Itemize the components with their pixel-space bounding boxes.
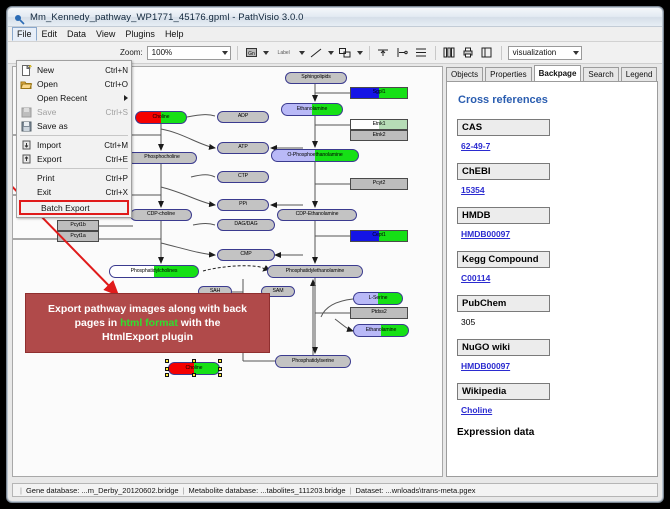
xref-label-pubchem: PubChem	[457, 295, 550, 312]
file-menu-item-save-as[interactable]: Save as	[17, 119, 131, 133]
status-dataset-label: Dataset:	[355, 486, 383, 495]
node-label: Phosphatidylcholines	[131, 269, 178, 274]
xref-value-chebi[interactable]: 15354	[461, 185, 485, 195]
metabolite-node-ethanolamine[interactable]: Ethanolamine	[281, 103, 343, 116]
file-menu-shortcut-import: Ctrl+M	[104, 141, 128, 150]
align-left-button[interactable]	[395, 45, 410, 60]
node-label: Ethanolamine	[297, 107, 328, 112]
gene-node-pcyt1a[interactable]: Pcyt1a	[57, 231, 99, 242]
gene-node-ptdss2[interactable]: Ptdss2	[350, 307, 408, 319]
print-button[interactable]	[461, 45, 476, 60]
xref-value-hmdb[interactable]: HMDB00097	[461, 229, 510, 239]
metabolite-node-choline[interactable]: Choline	[135, 111, 187, 124]
selection-handle-0[interactable]	[165, 359, 169, 363]
metabolite-node-cdp-ethanolamine[interactable]: CDP-Ethanolamine	[277, 209, 357, 221]
tab-legend[interactable]: Legend	[621, 67, 658, 81]
svg-text:Gn: Gn	[248, 51, 255, 57]
selection-handle-5[interactable]	[165, 373, 169, 377]
columns-button[interactable]	[442, 45, 457, 60]
label-dropdown-icon[interactable]	[299, 51, 305, 55]
pathvisio-window: Mm_Kennedy_pathway_WP1771_45176.gpml - P…	[7, 7, 663, 502]
submenu-arrow-icon	[124, 95, 128, 101]
node-label: CTP	[238, 174, 248, 179]
statusbar: | Gene database: ...m_Derby_20120602.bri…	[8, 479, 662, 501]
node-label: Choline	[186, 366, 203, 371]
node-label: Phosphatidylserine	[292, 359, 334, 364]
metabolite-node-o-phosphoethanolamine[interactable]: O-Phosphoethanolamine	[271, 149, 359, 162]
zoom-value: 100%	[152, 48, 172, 57]
file-menu-shortcut-export: Ctrl+E	[106, 155, 128, 164]
metabolite-node-cdp-choline[interactable]: CDP-choline	[130, 209, 192, 221]
node-label: Pcyt1a	[70, 234, 85, 239]
chevron-down-icon-2	[573, 51, 579, 55]
file-menu-item-save[interactable]: Save Ctrl+S	[17, 105, 131, 119]
blank-icon-4	[24, 202, 37, 213]
metabolite-node-atp[interactable]: ATP	[217, 142, 269, 154]
xref-label-cas: CAS	[457, 119, 550, 136]
toolbar-separator-3	[435, 46, 436, 60]
chevron-down-icon	[222, 51, 228, 55]
menubar: File Edit Data View Plugins Help	[8, 27, 662, 42]
node-label: Phosphocholine	[144, 155, 180, 160]
node-label: Etnk1	[373, 122, 386, 127]
status-metabolite-database-value: ...tabolites_111203.bridge	[260, 486, 345, 495]
metabolite-node-phosphatidylethanolamine[interactable]: Phosphatidylethanolamine	[267, 265, 363, 278]
node-label: ADP	[238, 114, 248, 119]
status-gene-database-label: Gene database:	[26, 486, 79, 495]
node-label: Choline	[153, 115, 170, 120]
node-label: CMP	[240, 252, 251, 257]
xref-value-wikipedia[interactable]: Choline	[461, 405, 492, 415]
file-menu-divider-2	[20, 168, 128, 169]
visualization-value: visualization	[513, 48, 557, 57]
expression-data-title: Expression data	[457, 427, 657, 438]
import-icon	[20, 140, 33, 151]
file-menu-item-print[interactable]: Print Ctrl+P	[17, 171, 131, 185]
file-menu-item-exit[interactable]: Exit Ctrl+X	[17, 185, 131, 199]
blank-icon-2	[20, 173, 33, 184]
selection-handle-6[interactable]	[192, 373, 196, 377]
node-label: ATP	[238, 145, 247, 150]
metabolite-node-adp[interactable]: ADP	[217, 111, 269, 123]
line-button[interactable]	[309, 45, 324, 60]
xref-kegg: Kegg Compound C00114	[457, 251, 657, 286]
gene-node-sgpl1[interactable]: Sgpl1	[350, 87, 408, 99]
save-as-disk-icon	[20, 121, 33, 132]
selection-handle-1[interactable]	[192, 359, 196, 363]
blank-icon-3	[20, 187, 33, 198]
export-icon	[20, 154, 33, 165]
menu-file[interactable]: File	[12, 27, 37, 41]
open-folder-icon	[20, 79, 33, 90]
gene-node-etnk2[interactable]: Etnk2	[350, 130, 408, 141]
file-menu-label-new: New	[37, 65, 105, 75]
metabolite-node-dag-dag[interactable]: DAG/DAG	[217, 219, 275, 231]
xref-cas: CAS 62-49-7	[457, 119, 657, 154]
annotation-highlight: html format	[120, 317, 178, 329]
xref-label-kegg: Kegg Compound	[457, 251, 550, 268]
stack-button[interactable]	[414, 45, 429, 60]
cross-references-title: Cross references	[458, 94, 657, 106]
pathvisio-icon	[14, 12, 25, 23]
metabolite-node-phosphatidylcholines[interactable]: Phosphatidylcholines	[109, 265, 199, 278]
file-menu-label-print: Print	[37, 173, 106, 183]
node-label: CDP-choline	[147, 212, 175, 217]
file-menu-label-export: Export	[37, 154, 106, 164]
align-top-button[interactable]	[376, 45, 391, 60]
tab-properties[interactable]: Properties	[485, 67, 531, 81]
node-label: Ptdss2	[371, 310, 386, 315]
menu-plugins[interactable]: Plugins	[120, 27, 160, 41]
node-label: Sphingolipids	[301, 75, 331, 80]
tab-objects[interactable]: Objects	[446, 67, 483, 81]
file-menu-label-open: Open	[37, 79, 105, 89]
annotation-line2-b: with the	[178, 317, 221, 329]
metabolite-node-ppi[interactable]: PPi	[217, 199, 269, 211]
node-label: L-Serine	[369, 296, 388, 301]
gene-node-etnk1[interactable]: Etnk1	[350, 119, 408, 130]
file-menu-label-batch-export: Batch Export	[41, 203, 124, 213]
selection-handle-2[interactable]	[218, 359, 222, 363]
xref-value-pubchem: 305	[461, 317, 475, 327]
node-label: Etnk2	[373, 133, 386, 138]
annotation-line3: HtmlExport plugin	[102, 331, 193, 343]
xref-value-nugo[interactable]: HMDB00097	[461, 361, 510, 371]
line-dropdown-icon[interactable]	[328, 51, 334, 55]
xref-wikipedia: Wikipedia Choline	[457, 383, 657, 418]
toolbar-separator-2	[369, 46, 370, 60]
file-menu-label-exit: Exit	[37, 187, 106, 197]
blank-icon	[20, 93, 33, 104]
window-titlebar: Mm_Kennedy_pathway_WP1771_45176.gpml - P…	[8, 8, 662, 27]
xref-label-chebi: ChEBI	[457, 163, 550, 180]
metabolite-node-cmp[interactable]: CMP	[217, 249, 275, 261]
metabolite-node-phosphatidylserine[interactable]: Phosphatidylserine	[275, 355, 351, 368]
gene-node-pcyt1b[interactable]: Pcyt1b	[57, 220, 99, 231]
file-menu-label-save-as: Save as	[37, 121, 128, 131]
node-label: O-Phosphoethanolamine	[287, 153, 342, 158]
node-label: Pcyt2	[373, 181, 385, 186]
annotation-line1: Export pathway images along with back	[48, 303, 247, 315]
xref-value-kegg[interactable]: C00114	[461, 273, 490, 283]
file-menu-item-open-recent[interactable]: Open Recent	[17, 91, 131, 105]
side-panel: Objects Properties Backpage Search Legen…	[446, 66, 658, 477]
status-gene-database-value: ...m_Derby_20120602.bridge	[81, 486, 178, 495]
file-menu-shortcut-open: Ctrl+O	[105, 80, 128, 89]
file-menu-shortcut-new: Ctrl+N	[105, 66, 128, 75]
tab-backpage[interactable]: Backpage	[534, 65, 582, 81]
metabolite-node-sphingolipids[interactable]: Sphingolipids	[285, 72, 347, 84]
node-label: Ethanolamine	[366, 328, 397, 333]
status-dataset-value: ...wnloads\trans-meta.pgex	[385, 486, 475, 495]
toolbar-separator-4	[501, 46, 502, 60]
shape-button[interactable]	[338, 45, 353, 60]
file-menu-label-import: Import	[37, 140, 104, 150]
gene-node-cept1[interactable]: Cept1	[350, 230, 408, 242]
metabolite-node-ctp[interactable]: CTP	[217, 171, 269, 183]
zoom-combo[interactable]: 100%	[147, 46, 231, 60]
node-label: Sgpl1	[373, 90, 386, 95]
xref-label-nugo: NuGO wiki	[457, 339, 550, 356]
metabolite-node-ethanolamine[interactable]: Ethanolamine	[353, 324, 409, 337]
zoom-label: Zoom:	[120, 48, 143, 57]
selection-handle-4[interactable]	[218, 367, 222, 371]
file-menu-shortcut-save: Ctrl+S	[106, 108, 128, 117]
menu-help[interactable]: Help	[160, 27, 189, 41]
xref-label-wikipedia: Wikipedia	[457, 383, 550, 400]
sidebar-button[interactable]	[480, 45, 495, 60]
xref-hmdb: HMDB HMDB00097	[457, 207, 657, 242]
gene-node-pcyt2[interactable]: Pcyt2	[350, 178, 408, 190]
menu-edit[interactable]: Edit	[37, 27, 63, 41]
file-menu-popup[interactable]: New Ctrl+N Open Ctrl+O Open Recent Save …	[16, 60, 132, 218]
xref-pubchem: PubChem 305	[457, 295, 657, 330]
file-menu-item-export[interactable]: Export Ctrl+E	[17, 152, 131, 166]
shape-dropdown-icon[interactable]	[357, 51, 363, 55]
datanode-dropdown-icon[interactable]	[263, 51, 269, 55]
menu-view[interactable]: View	[91, 27, 120, 41]
annotation-callout: Export pathway images along with back pa…	[25, 293, 270, 353]
node-label: PPi	[239, 202, 247, 207]
metabolite-node-phosphocholine[interactable]: Phosphocholine	[127, 152, 197, 164]
selection-handle-3[interactable]	[165, 367, 169, 371]
status-metabolite-database-label: Metabolite database:	[189, 486, 259, 495]
metabolite-node-l-serine[interactable]: L-Serine	[353, 292, 403, 305]
node-label: CDP-Ethanolamine	[296, 212, 339, 217]
menu-data[interactable]: Data	[62, 27, 91, 41]
tab-search[interactable]: Search	[583, 67, 618, 81]
file-menu-label-open-recent: Open Recent	[37, 93, 124, 103]
file-menu-divider-1	[20, 135, 128, 136]
node-label: SAM	[273, 289, 284, 294]
save-disk-icon	[20, 107, 33, 118]
node-label: DAG/DAG	[234, 222, 257, 227]
file-menu-shortcut-exit: Ctrl+X	[106, 188, 128, 197]
xref-nugo: NuGO wiki HMDB00097	[457, 339, 657, 374]
toolbar-separator	[237, 46, 238, 60]
window-title: Mm_Kennedy_pathway_WP1771_45176.gpml - P…	[30, 12, 304, 23]
file-menu-shortcut-print: Ctrl+P	[106, 174, 128, 183]
backpage-content[interactable]: Cross references CAS 62-49-7 ChEBI 15354…	[446, 81, 658, 477]
node-label: Cept1	[372, 233, 385, 238]
file-menu-item-open[interactable]: Open Ctrl+O	[17, 77, 131, 91]
visualization-combo[interactable]: visualization	[508, 46, 582, 60]
xref-value-cas[interactable]: 62-49-7	[461, 141, 490, 151]
label-button[interactable]: Label	[273, 45, 295, 60]
file-menu-item-new[interactable]: New Ctrl+N	[17, 63, 131, 77]
new-document-icon	[20, 65, 33, 76]
annotation-line2-a: pages in	[75, 317, 121, 329]
xref-chebi: ChEBI 15354	[457, 163, 657, 198]
datanode-button[interactable]: Gn	[244, 45, 259, 60]
node-label: Pcyt1b	[70, 223, 85, 228]
file-menu-item-import[interactable]: Import Ctrl+M	[17, 138, 131, 152]
xref-label-hmdb: HMDB	[457, 207, 550, 224]
file-menu-item-batch-export[interactable]: Batch Export	[19, 200, 129, 215]
node-label: Phosphatidylethanolamine	[286, 269, 344, 274]
file-menu-label-save: Save	[37, 107, 106, 117]
side-panel-tabs: Objects Properties Backpage Search Legen…	[446, 66, 658, 81]
selection-handle-7[interactable]	[218, 373, 222, 377]
